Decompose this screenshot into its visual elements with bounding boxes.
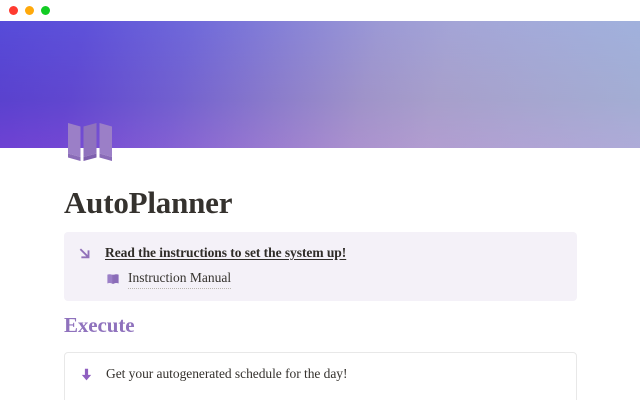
- callout-instructions-row: Read the instructions to set the system …: [77, 244, 563, 262]
- open-book-icon: [105, 271, 120, 286]
- callout-schedule-row: Get your autogenerated schedule for the …: [78, 365, 562, 384]
- instruction-manual-link[interactable]: Instruction Manual: [128, 269, 231, 289]
- minimize-window-button[interactable]: [25, 6, 34, 15]
- callout-instructions[interactable]: Read the instructions to set the system …: [64, 232, 577, 301]
- folded-map-icon[interactable]: [66, 120, 114, 164]
- maximize-window-button[interactable]: [41, 6, 50, 15]
- arrow-down-icon: [78, 366, 95, 383]
- callout-schedule[interactable]: Get your autogenerated schedule for the …: [64, 352, 577, 400]
- traffic-light-controls: [9, 6, 50, 15]
- window-titlebar: [0, 0, 640, 21]
- callout-instructions-subitem[interactable]: Instruction Manual: [105, 269, 563, 289]
- callout-instructions-heading[interactable]: Read the instructions to set the system …: [105, 244, 346, 262]
- arrow-down-right-icon: [77, 245, 94, 262]
- callout-schedule-text[interactable]: Get your autogenerated schedule for the …: [106, 365, 347, 384]
- page-content: AutoPlanner Read the instructions to set…: [0, 170, 640, 220]
- section-heading-execute[interactable]: Execute: [64, 313, 134, 338]
- app-window: AutoPlanner Read the instructions to set…: [0, 0, 640, 400]
- close-window-button[interactable]: [9, 6, 18, 15]
- page-title[interactable]: AutoPlanner: [0, 170, 640, 220]
